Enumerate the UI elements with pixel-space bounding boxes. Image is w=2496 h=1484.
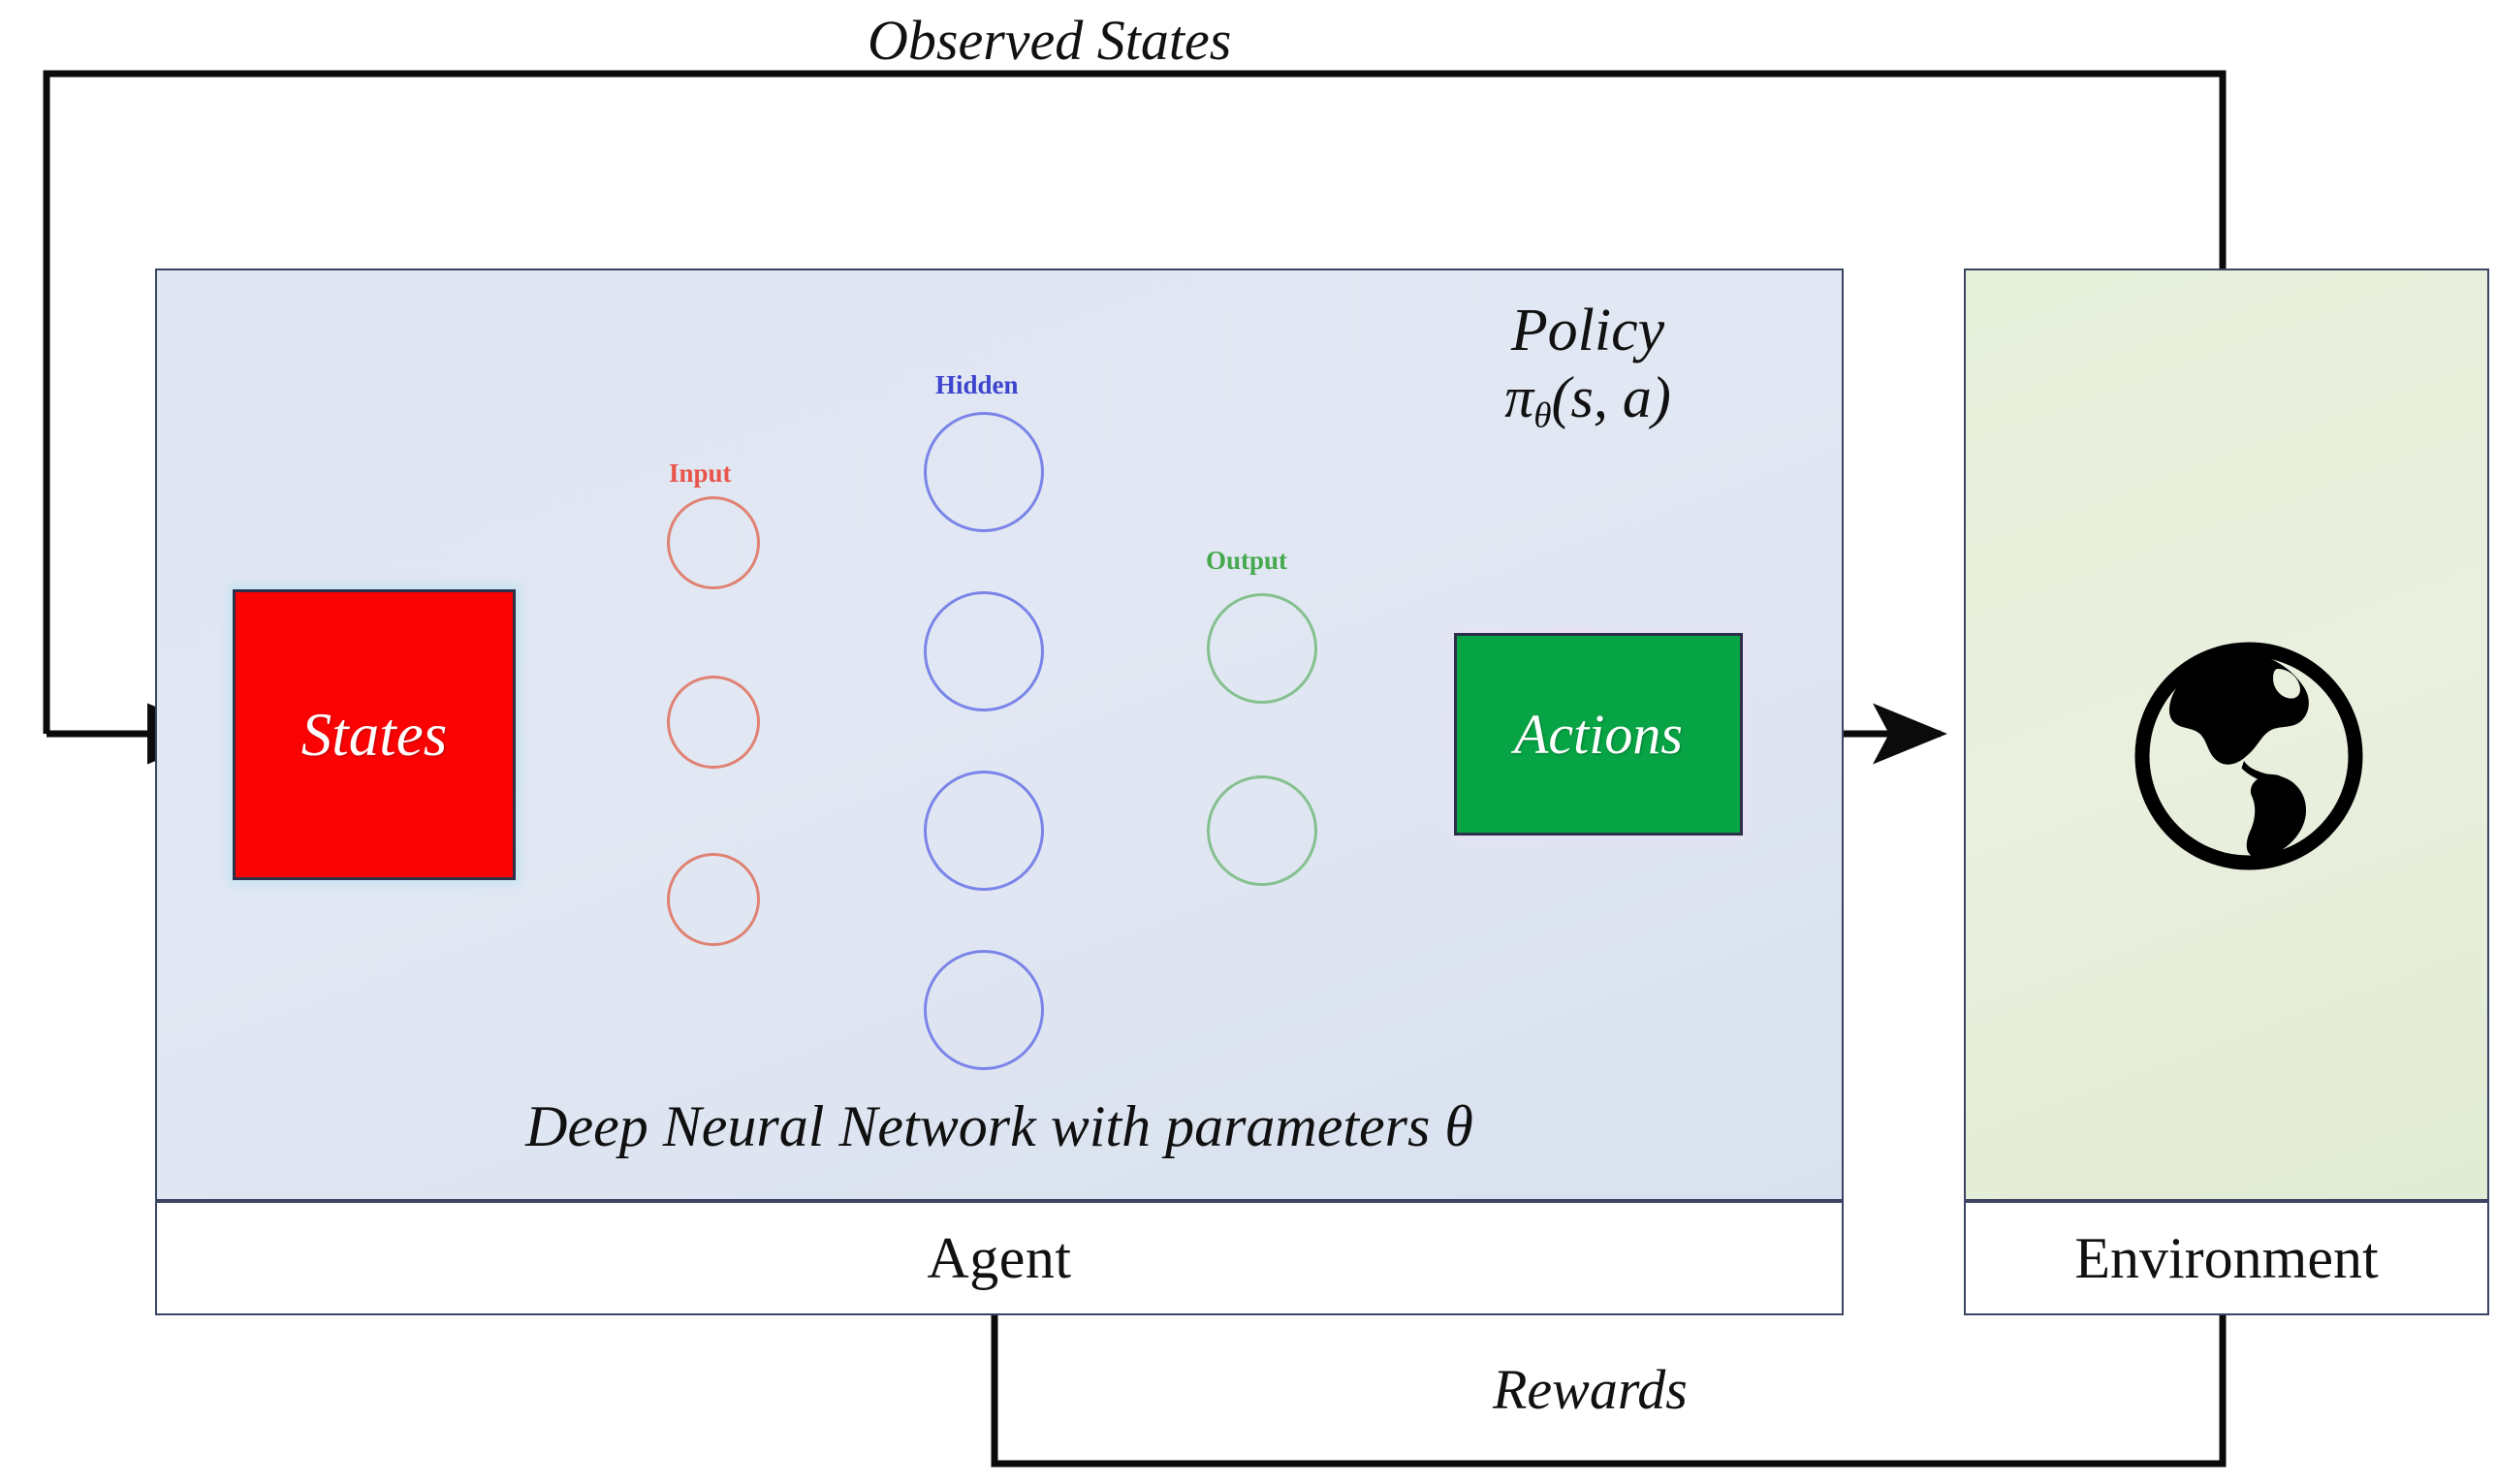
hidden-layer-label: Hidden xyxy=(935,370,1019,400)
policy-title: Policy xyxy=(1433,300,1743,362)
hidden-neuron xyxy=(924,771,1044,891)
input-layer-label: Input xyxy=(669,458,732,489)
states-block[interactable]: States xyxy=(233,589,516,880)
input-neuron xyxy=(667,496,760,589)
output-neuron xyxy=(1207,775,1317,886)
output-neuron xyxy=(1207,593,1317,704)
policy-formula: πθ(s, a) xyxy=(1433,362,1743,439)
hidden-neuron xyxy=(924,591,1044,711)
input-neuron xyxy=(667,853,760,946)
policy-formula-subscript: θ xyxy=(1533,396,1551,436)
hidden-neuron xyxy=(924,412,1044,532)
actions-block[interactable]: Actions xyxy=(1454,633,1743,836)
environment-label: Environment xyxy=(2074,1225,2378,1292)
agent-label: Agent xyxy=(927,1225,1071,1292)
input-neuron xyxy=(667,676,760,769)
policy-annotation: Policy πθ(s, a) xyxy=(1433,300,1743,439)
diagram-canvas: Observed States Rewards Policy πθ(s, a) … xyxy=(0,0,2496,1484)
hidden-neuron xyxy=(924,950,1044,1070)
agent-caption-bar: Agent xyxy=(155,1201,1844,1315)
environment-caption-bar: Environment xyxy=(1964,1201,2489,1315)
output-layer-label: Output xyxy=(1206,546,1287,576)
deep-neural-network-caption: Deep Neural Network with parameters θ xyxy=(155,1093,1844,1160)
observed-states-label: Observed States xyxy=(868,8,1231,73)
rewards-label: Rewards xyxy=(1493,1357,1688,1422)
policy-formula-args: (s, a) xyxy=(1552,365,1671,429)
globe-icon xyxy=(2128,635,2370,877)
policy-formula-pi: π xyxy=(1504,365,1533,429)
